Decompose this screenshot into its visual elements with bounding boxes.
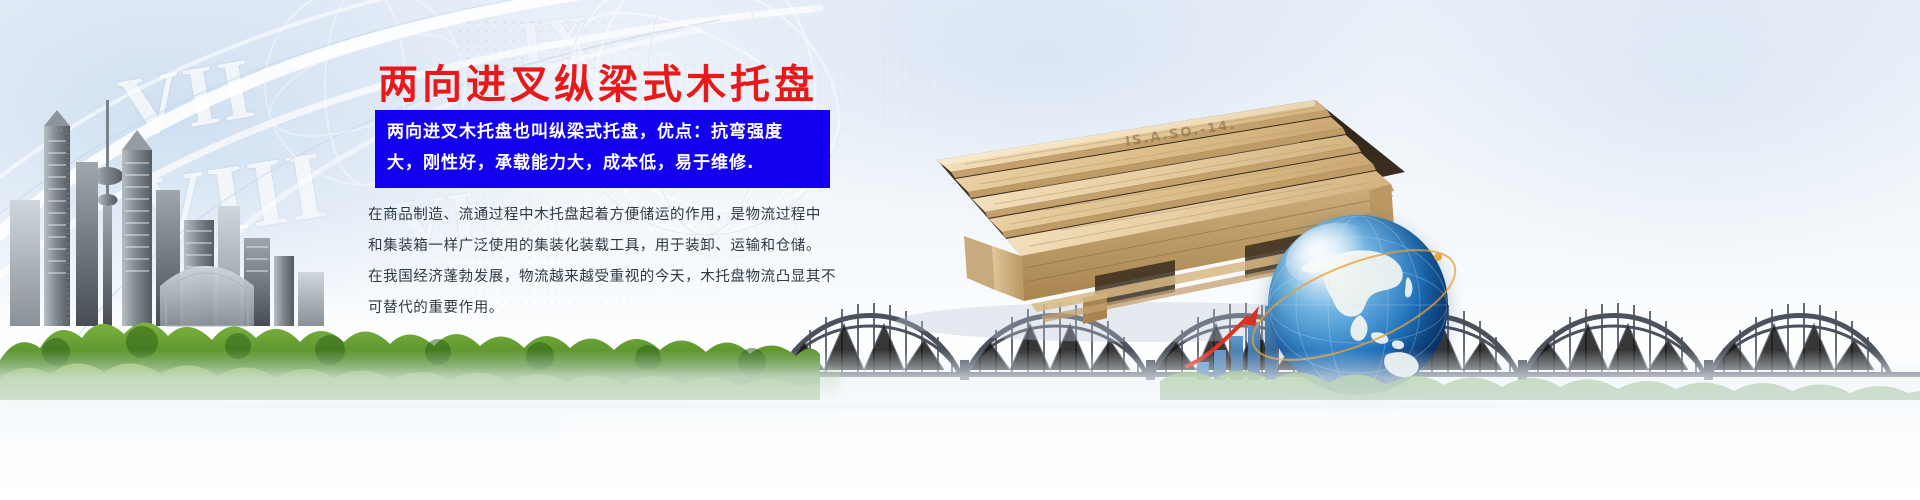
highlight-callout-box: 两向进叉木托盘也叫纵梁式托盘，优点：抗弯强度 大，刚性好，承载能力大，成本低，易…: [375, 110, 830, 188]
description-line-3: 在我国经济蓬勃发展，物流越来越受重视的今天，木托盘物流凸显其不: [368, 262, 848, 293]
water-fade: [0, 350, 1920, 500]
highlight-line-2: 大，刚性好，承载能力大，成本低，易于维修.: [387, 148, 820, 179]
promo-banner: VII VIII VI IX XII: [0, 0, 1920, 500]
highlight-line-1: 两向进叉木托盘也叫纵梁式托盘，优点：抗弯强度: [387, 117, 820, 148]
description-line-1: 在商品制造、流通过程中木托盘起着方便储运的作用，是物流过程中: [368, 200, 848, 231]
description-line-2: 和集装箱一样广泛使用的集装化装载工具，用于装卸、运输和仓储。: [368, 231, 848, 262]
banner-title: 两向进叉纵梁式木托盘: [378, 52, 818, 110]
